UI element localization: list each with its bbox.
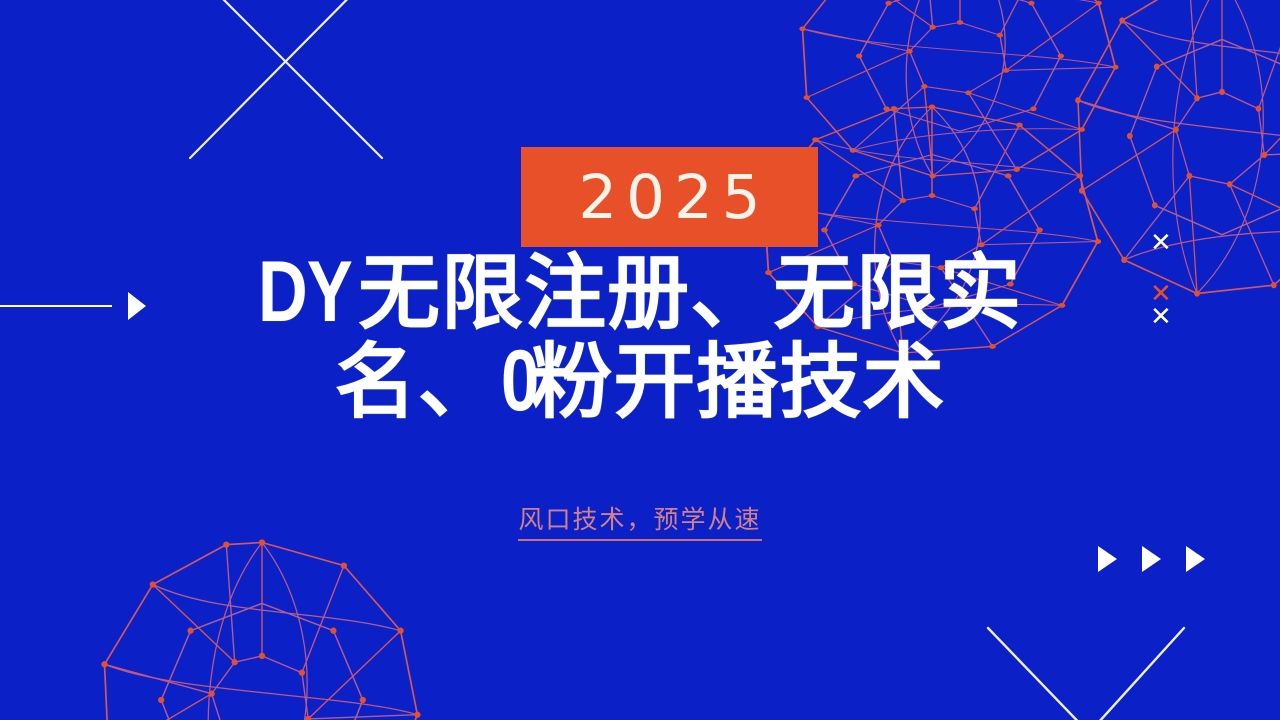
big-x-decoration-top-left <box>182 0 388 158</box>
chevron-decoration-bottom-right <box>988 628 1184 720</box>
headline-line-2-cjk-before: 名、 <box>335 335 501 430</box>
play-arrow-2 <box>1142 546 1161 572</box>
x-mark-white-top: ✕ <box>1150 230 1172 256</box>
headline-line-1-latin: DY <box>258 248 352 337</box>
subtitle-text: 风口技术，预学从速 <box>518 500 761 541</box>
x-mark-white-bottom: ✕ <box>1150 304 1172 330</box>
polyhedron-top-right-a <box>799 0 1118 178</box>
subtitle-block: 风口技术，预学从速 <box>0 500 1280 541</box>
year-badge-label: 2025 <box>569 167 769 228</box>
play-arrow-3 <box>1186 546 1205 572</box>
poster-canvas: 2025 DY无限注册、无限实 名、0粉开播技术 风口技术，预学从速 ✕ ✕ ✕ <box>0 0 1280 720</box>
play-arrow-1 <box>1098 546 1117 572</box>
headline-block: DY无限注册、无限实 名、0粉开播技术 <box>0 248 1280 425</box>
headline-line-2-cjk-after: 粉开播技术 <box>530 335 945 430</box>
headline-line-2-latin: 0 <box>501 337 538 426</box>
headline-line-1: DY无限注册、无限实 <box>0 248 1280 337</box>
headline-line-1-cjk: 无限注册、无限实 <box>358 246 1022 341</box>
year-badge: 2025 <box>521 147 818 247</box>
geodesic-sphere-bottom-left <box>101 539 420 720</box>
headline-line-2: 名、0粉开播技术 <box>0 337 1280 426</box>
